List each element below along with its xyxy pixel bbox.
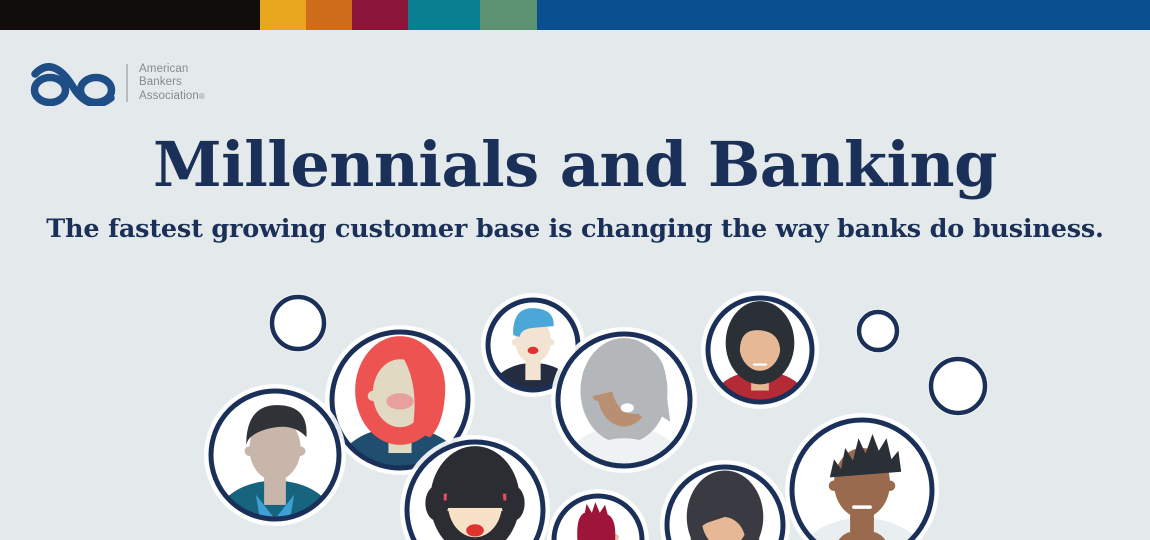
logo-wordmark: American Bankers Association® [139,63,205,104]
registered-trademark-icon: ® [199,92,205,101]
color-bar-segment-maroon [352,0,408,30]
bubble-empty-bubble-right-small [856,309,900,353]
avatar-bubble-person-maroon-hair [547,489,649,540]
color-bar-segment-blue [537,0,1150,30]
page-title: Millennials and Banking [0,132,1150,198]
aba-logo-mark-icon [26,60,118,106]
bubble-empty-bubble-left [269,294,327,352]
avatar-bubble-person-long-dark-hair [660,460,790,540]
color-bar-segment-sage-green [480,0,537,30]
avatar-bubble-woman-black-hair-red-top [701,291,819,435]
color-bar-segment-teal [408,0,480,30]
color-bar-segment-black [0,0,260,30]
color-bar-segment-orange [306,0,352,30]
american-bankers-association-logo[interactable]: American Bankers Association® [26,60,205,106]
avatar-bubble-man-dark-hair-blue-shirt [204,384,346,540]
top-color-bar [0,0,1150,30]
avatar-bubble-man-dark-skin-tank-top [785,413,939,540]
infographic-page: American Bankers Association® Millennial… [0,0,1150,540]
color-bar-segment-amber [260,0,306,30]
page-subtitle: The fastest growing customer base is cha… [0,214,1150,244]
avatar-bubble-woman-gray-hair [551,327,697,508]
logo-divider [126,64,128,102]
logo-wordmark-text: American Bankers Association [139,63,199,102]
bubble-empty-bubble-right-large [928,356,988,416]
